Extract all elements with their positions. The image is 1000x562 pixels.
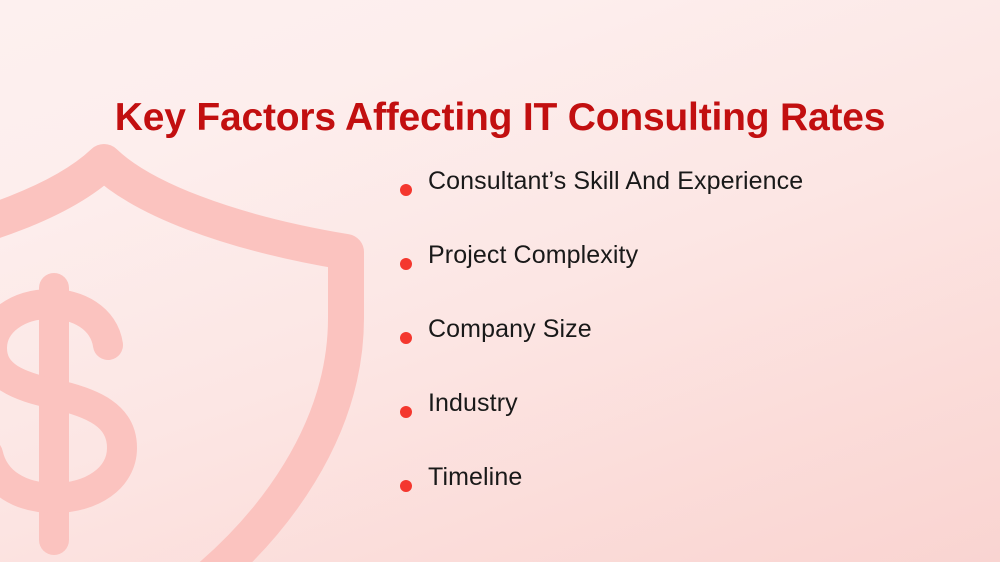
factors-list: Consultant’s Skill And Experience Projec… [392,166,952,536]
list-item: Consultant’s Skill And Experience [392,166,952,240]
shield-dollar-watermark [0,128,366,562]
list-item-label: Timeline [428,462,522,493]
shield-outline-path [0,162,346,562]
bullet-dot-icon [400,480,412,492]
list-item: Project Complexity [392,240,952,314]
list-item-label: Project Complexity [428,240,638,271]
shield-icon [0,128,366,562]
list-item-label: Industry [428,388,518,419]
list-item: Timeline [392,462,952,536]
bullet-dot-icon [400,332,412,344]
page-title: Key Factors Affecting IT Consulting Rate… [0,94,1000,142]
list-item-label: Consultant’s Skill And Experience [428,166,803,197]
list-item: Company Size [392,314,952,388]
bullet-dot-icon [400,406,412,418]
dollar-sign-icon [0,288,122,540]
list-item: Industry [392,388,952,462]
slide-canvas: Key Factors Affecting IT Consulting Rate… [0,0,1000,562]
list-item-label: Company Size [428,314,592,345]
bullet-dot-icon [400,184,412,196]
bullet-dot-icon [400,258,412,270]
